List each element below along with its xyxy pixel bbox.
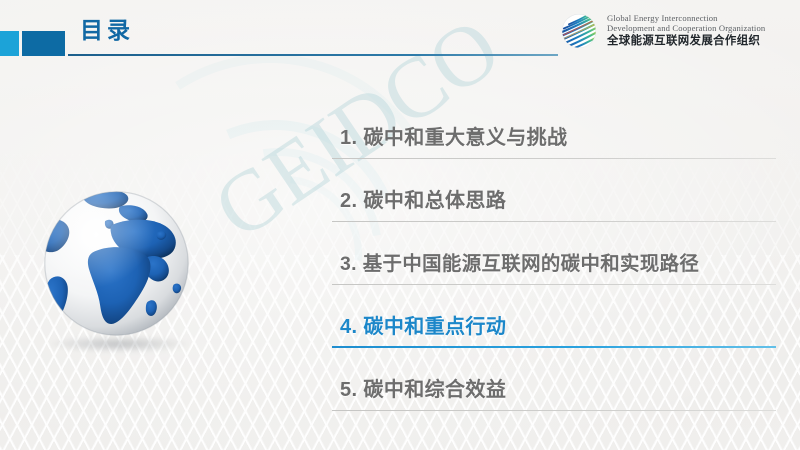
header-accent-block-small [0,31,19,56]
toc-item-2-label: 2. 碳中和总体思路 [340,184,506,213]
earth-globe-3d-icon [35,182,198,345]
organization-logo: Global Energy Interconnection Developmen… [558,8,794,54]
header-divider [68,54,558,56]
toc-item-3-label: 3. 基于中国能源互联网的碳中和实现路径 [340,247,699,276]
toc-item-5-underline [332,410,776,411]
globe-illustration [35,182,205,367]
toc-item-2[interactable]: 2. 碳中和总体思路 [332,159,776,222]
logo-chinese-name: 全球能源互联网发展合作组织 [607,35,765,48]
toc-item-5[interactable]: 5. 碳中和综合效益 [332,348,776,411]
toc-item-1[interactable]: 1. 碳中和重大意义与挑战 [332,96,776,159]
toc-item-3[interactable]: 3. 基于中国能源互联网的碳中和实现路径 [332,222,776,285]
toc-item-1-label: 1. 碳中和重大意义与挑战 [340,121,567,150]
toc-item-4[interactable]: 4. 碳中和重点行动 [332,285,776,348]
table-of-contents: 1. 碳中和重大意义与挑战 2. 碳中和总体思路 3. 基于中国能源互联网的碳中… [332,96,776,411]
logo-english-line-1: Global Energy Interconnection [607,13,765,23]
toc-item-5-label: 5. 碳中和综合效益 [340,373,506,402]
header-accent-block-large [22,31,65,56]
logo-english-line-2: Development and Cooperation Organization [607,23,765,33]
toc-item-4-label: 4. 碳中和重点行动 [340,310,506,339]
page-title: 目录 [80,19,134,42]
slide-canvas: GEIDCO 目录 [0,0,800,450]
organization-logo-text: Global Energy Interconnection Developmen… [607,13,765,49]
geidco-globe-logo-icon [558,10,600,52]
